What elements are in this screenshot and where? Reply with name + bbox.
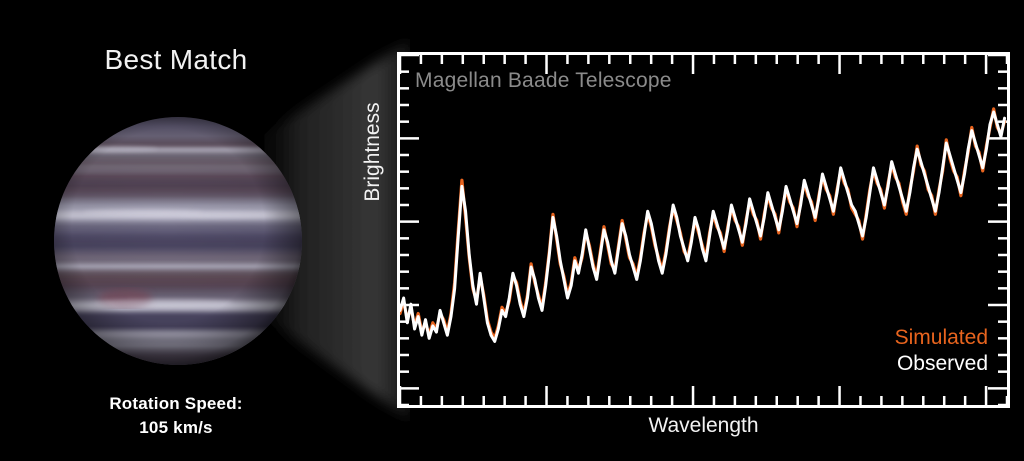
rotation-speed-block: Rotation Speed: 105 km/s: [0, 392, 352, 440]
observed-curve: [400, 112, 1005, 341]
telescope-annotation: Magellan Baade Telescope: [415, 69, 672, 93]
legend-item-observed: Observed: [895, 351, 988, 377]
page-title: Best Match: [0, 44, 352, 76]
rotation-speed-label: Rotation Speed:: [0, 392, 352, 416]
planet-image: [53, 116, 303, 366]
planet-visualization: [53, 116, 303, 366]
left-panel: Best Match: [0, 0, 360, 461]
simulated-curve: [400, 109, 1005, 338]
x-axis-label: Wavelength: [397, 414, 1010, 438]
rotation-speed-value: 105 km/s: [0, 416, 352, 440]
y-axis-label: Brightness: [361, 72, 385, 232]
figure-root: Best Match: [0, 0, 1024, 461]
legend: Simulated Observed: [895, 325, 988, 376]
legend-item-simulated: Simulated: [895, 325, 988, 351]
